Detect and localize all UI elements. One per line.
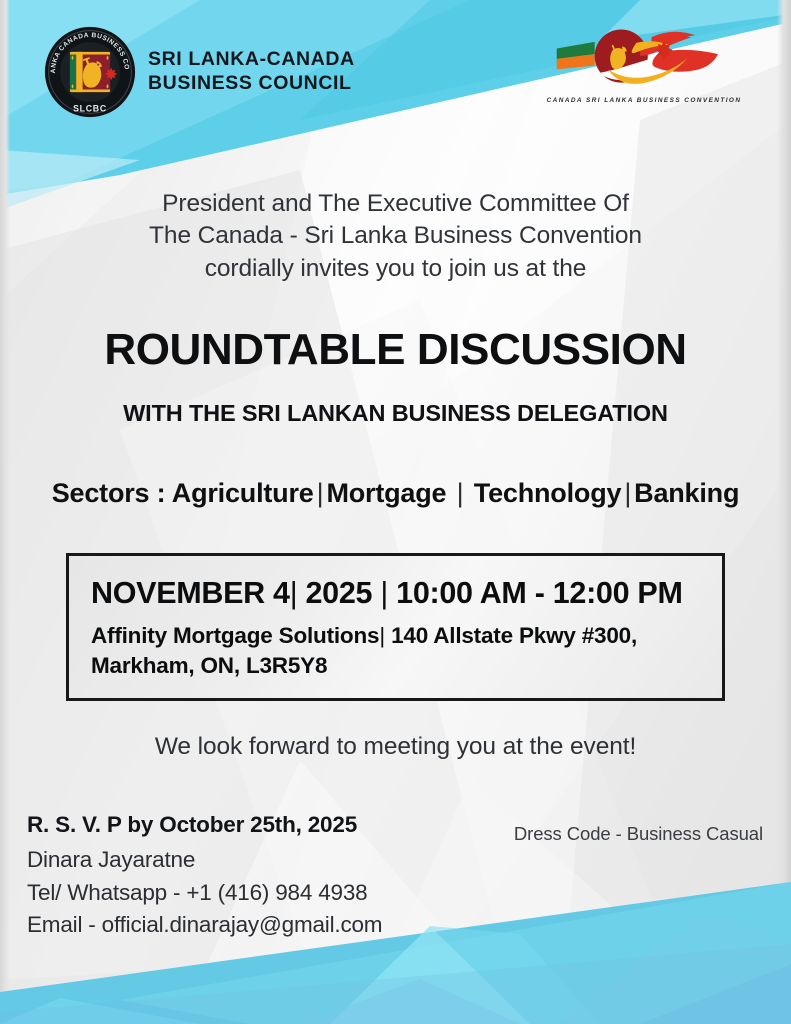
rsvp-contact-name: Dinara Jayaratne: [27, 844, 382, 877]
rsvp-block: R. S. V. P by October 25th, 2025 Dinara …: [27, 812, 382, 942]
council-name: SRI LANKA-CANADA BUSINESS COUNCIL: [148, 48, 355, 96]
sector-separator-2: |: [454, 478, 467, 508]
closing-message: We look forward to meeting you at the ev…: [0, 733, 791, 761]
venue-name: Affinity Mortgage Solutions: [91, 623, 379, 648]
rsvp-title: R. S. V. P by October 25th, 2025: [27, 812, 382, 838]
sector-separator-3: |: [621, 478, 634, 508]
sector-separator-1: |: [314, 478, 327, 508]
invitation-poster: SRI LANKA CANADA BUSINESS COUNCIL SLCBC …: [0, 0, 791, 1024]
intro-line-1: President and The Executive Committee Of: [0, 188, 791, 220]
header: SRI LANKA CANADA BUSINESS COUNCIL SLCBC …: [0, 0, 791, 185]
sector-agriculture: Agriculture: [172, 478, 314, 508]
convention-tagline: CANADA SRI LANKA BUSINESS CONVENTION: [539, 97, 749, 104]
event-venue-block: Affinity Mortgage Solutions| 140 Allstat…: [91, 621, 700, 680]
event-year: 2025: [306, 576, 373, 610]
event-datetime-line: NOVEMBER 4| 2025 | 10:00 AM - 12:00 PM: [91, 576, 700, 611]
venue-address-line-1: 140 Allstate Pkwy #300,: [391, 623, 637, 648]
event-headline: ROUNDTABLE DISCUSSION: [0, 325, 791, 375]
venue-separator: |: [379, 623, 385, 648]
svg-text:SLCBC: SLCBC: [73, 104, 107, 114]
sector-mortgage: Mortgage: [326, 478, 446, 508]
sector-technology: Technology: [474, 478, 622, 508]
slcbc-logo-group: SRI LANKA CANADA BUSINESS COUNCIL SLCBC …: [44, 26, 355, 118]
sectors-label: Sectors :: [52, 478, 166, 508]
intro-line-2: The Canada - Sri Lanka Business Conventi…: [0, 220, 791, 252]
slcbc-emblem-icon: SRI LANKA CANADA BUSINESS COUNCIL SLCBC: [44, 26, 136, 118]
venue-address-line-2: Markham, ON, L3R5Y8: [91, 653, 327, 678]
datetime-separator-2: |: [380, 576, 388, 610]
rsvp-email[interactable]: Email - official.dinarajay@gmail.com: [27, 909, 382, 942]
convention-logo-group: CANADA SRI LANKA BUSINESS CONVENTION: [539, 20, 749, 104]
intro-line-3: cordially invites you to join us at the: [0, 253, 791, 285]
datetime-separator-1: |: [290, 576, 298, 610]
intro-block: President and The Executive Committee Of…: [0, 188, 791, 285]
canada-sri-lanka-convention-icon: [549, 20, 739, 94]
event-time: 10:00 AM - 12:00 PM: [396, 576, 682, 610]
event-date: NOVEMBER 4: [91, 576, 290, 610]
event-details-box: NOVEMBER 4| 2025 | 10:00 AM - 12:00 PM A…: [66, 553, 725, 701]
event-subheadline: WITH THE SRI LANKAN BUSINESS DELEGATION: [0, 400, 791, 427]
sector-banking: Banking: [634, 478, 739, 508]
sectors-line: Sectors : Agriculture|Mortgage | Technol…: [0, 478, 791, 509]
rsvp-phone[interactable]: Tel/ Whatsapp - +1 (416) 984 4938: [27, 877, 382, 910]
dress-code-note: Dress Code - Business Casual: [514, 823, 763, 845]
